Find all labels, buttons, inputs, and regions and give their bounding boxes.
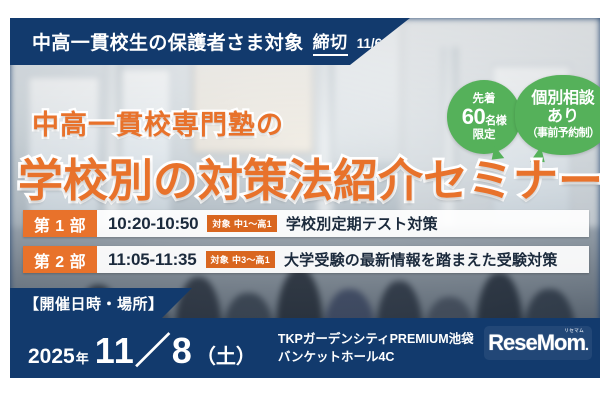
date-venue-bar: 2025 年 11／8 （土） TKPガーデンシティPREMIUM池袋 バンケッ… <box>10 318 600 378</box>
headline-group: 中高一貫校専門塾の 学校別の対策法紹介セミナー <box>10 103 600 209</box>
resemom-logo: リセマム ReseMom. <box>484 326 592 360</box>
program-target-label: 対象 <box>212 217 230 230</box>
venue-line-2: バンケットホール4C <box>278 348 474 366</box>
program-row-body: 11:05-11:35 対象中3〜高1 大学受験の最新情報を踏まえた受験対策 <box>97 246 589 273</box>
program-list: 第 1 部 10:20-10:50 対象中1〜高1 学校別定期テスト対策 第 2… <box>23 210 589 282</box>
program-topic: 大学受験の最新情報を踏まえた受験対策 <box>284 249 558 270</box>
program-time: 10:20-10:50 <box>108 214 198 234</box>
audience-title: 中高一貫校生の保護者さま対象 <box>32 28 304 55</box>
deadline-bar: 中高一貫校生の保護者さま対象 締切 11/6(木)23:59まで <box>10 18 410 65</box>
event-year-unit: 年 <box>76 348 89 367</box>
program-target-label: 対象 <box>211 253 229 266</box>
program-target-badge: 対象中3〜高1 <box>206 251 275 268</box>
seminar-banner: 中高一貫校生の保護者さま対象 締切 11/6(木)23:59まで 先着 60名様… <box>10 18 600 378</box>
program-target-badge: 対象中1〜高1 <box>207 215 276 232</box>
resemom-logo-tagline: リセマム <box>564 328 584 334</box>
program-part-label: 第 1 部 <box>23 210 97 237</box>
headline-title: 学校別の対策法紹介セミナー <box>18 144 600 209</box>
resemom-wordmark-dot: . <box>585 337 588 353</box>
program-row-body: 10:20-10:50 対象中1〜高1 学校別定期テスト対策 <box>97 210 589 237</box>
program-topic: 学校別定期テスト対策 <box>286 213 438 234</box>
venue-line-1: TKPガーデンシティPREMIUM池袋 <box>278 330 474 348</box>
event-day-of-week: （土） <box>196 340 256 369</box>
event-venue: TKPガーデンシティPREMIUM池袋 バンケットホール4C <box>278 330 474 366</box>
event-year: 2025 <box>28 345 75 369</box>
event-month-day: 11／8 <box>95 322 193 374</box>
program-target-value: 中1〜高1 <box>234 217 272 230</box>
where-tab-label: 【開催日時・場所】 <box>24 293 164 314</box>
deadline-label: 締切 <box>313 28 348 56</box>
event-date: 2025 年 11／8 （土） <box>28 322 256 374</box>
headline-subtitle: 中高一貫校専門塾の <box>32 103 600 142</box>
program-row: 第 1 部 10:20-10:50 対象中1〜高1 学校別定期テスト対策 <box>23 210 589 237</box>
where-tab: 【開催日時・場所】 <box>10 288 192 318</box>
program-time: 11:05-11:35 <box>108 250 197 270</box>
program-row: 第 2 部 11:05-11:35 対象中3〜高1 大学受験の最新情報を踏まえた… <box>23 246 589 273</box>
program-part-label: 第 2 部 <box>23 246 97 273</box>
program-target-value: 中3〜高1 <box>232 253 270 266</box>
